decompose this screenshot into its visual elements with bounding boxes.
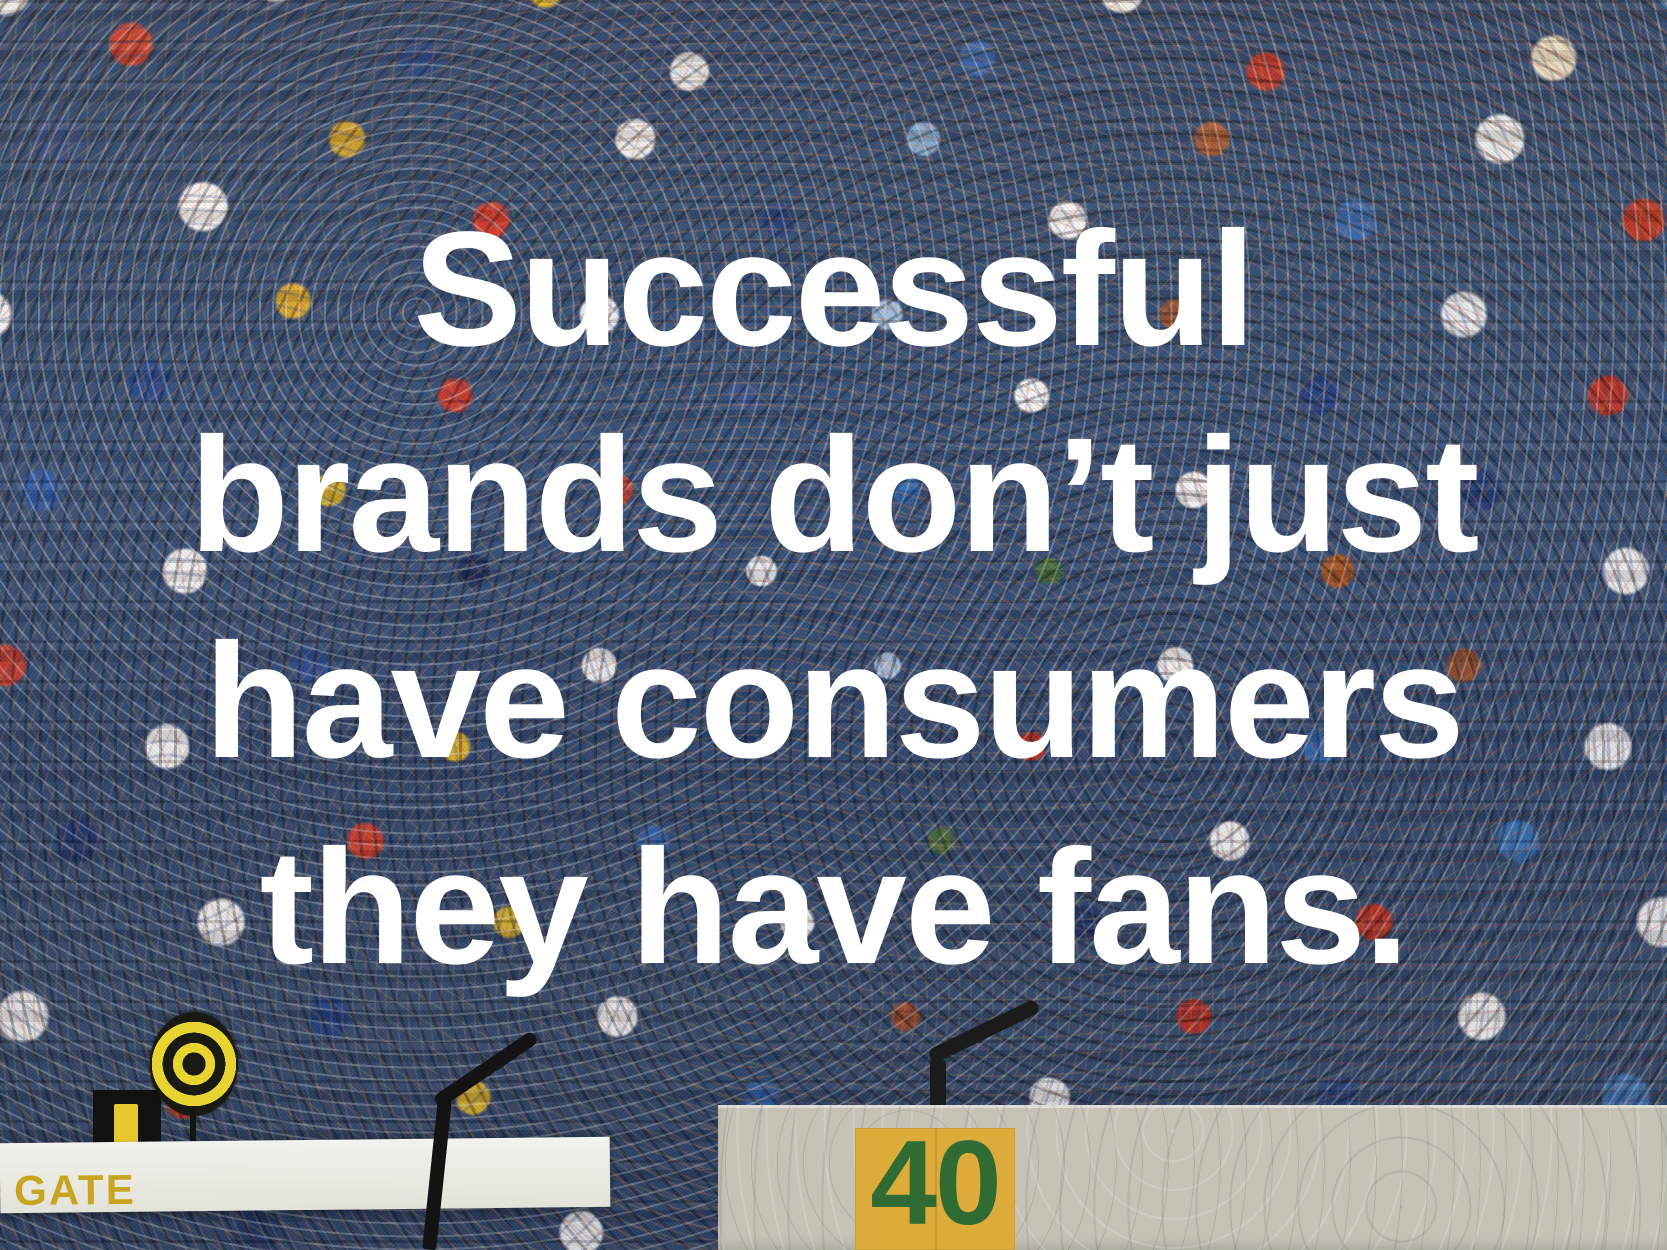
quote-line-3: have consumers [54, 598, 1614, 804]
yard-marker-number: 40 [870, 1128, 999, 1238]
yard-marker-sign: 40 [855, 1128, 1015, 1250]
quote-overlay: Successful brands don’t just have consum… [54, 186, 1614, 1010]
crowd-banner-text: GATE [14, 1161, 594, 1215]
bullseye-sign [150, 1012, 238, 1116]
crowd-banner: GATE [0, 1137, 610, 1213]
slide-canvas: GATE 40 Successful brands don’t just hav… [0, 0, 1667, 1250]
quote-line-4: they have fans. [54, 804, 1614, 1010]
quote-line-1: Successful [54, 186, 1614, 392]
quote-line-2: brands don’t just [54, 392, 1614, 598]
